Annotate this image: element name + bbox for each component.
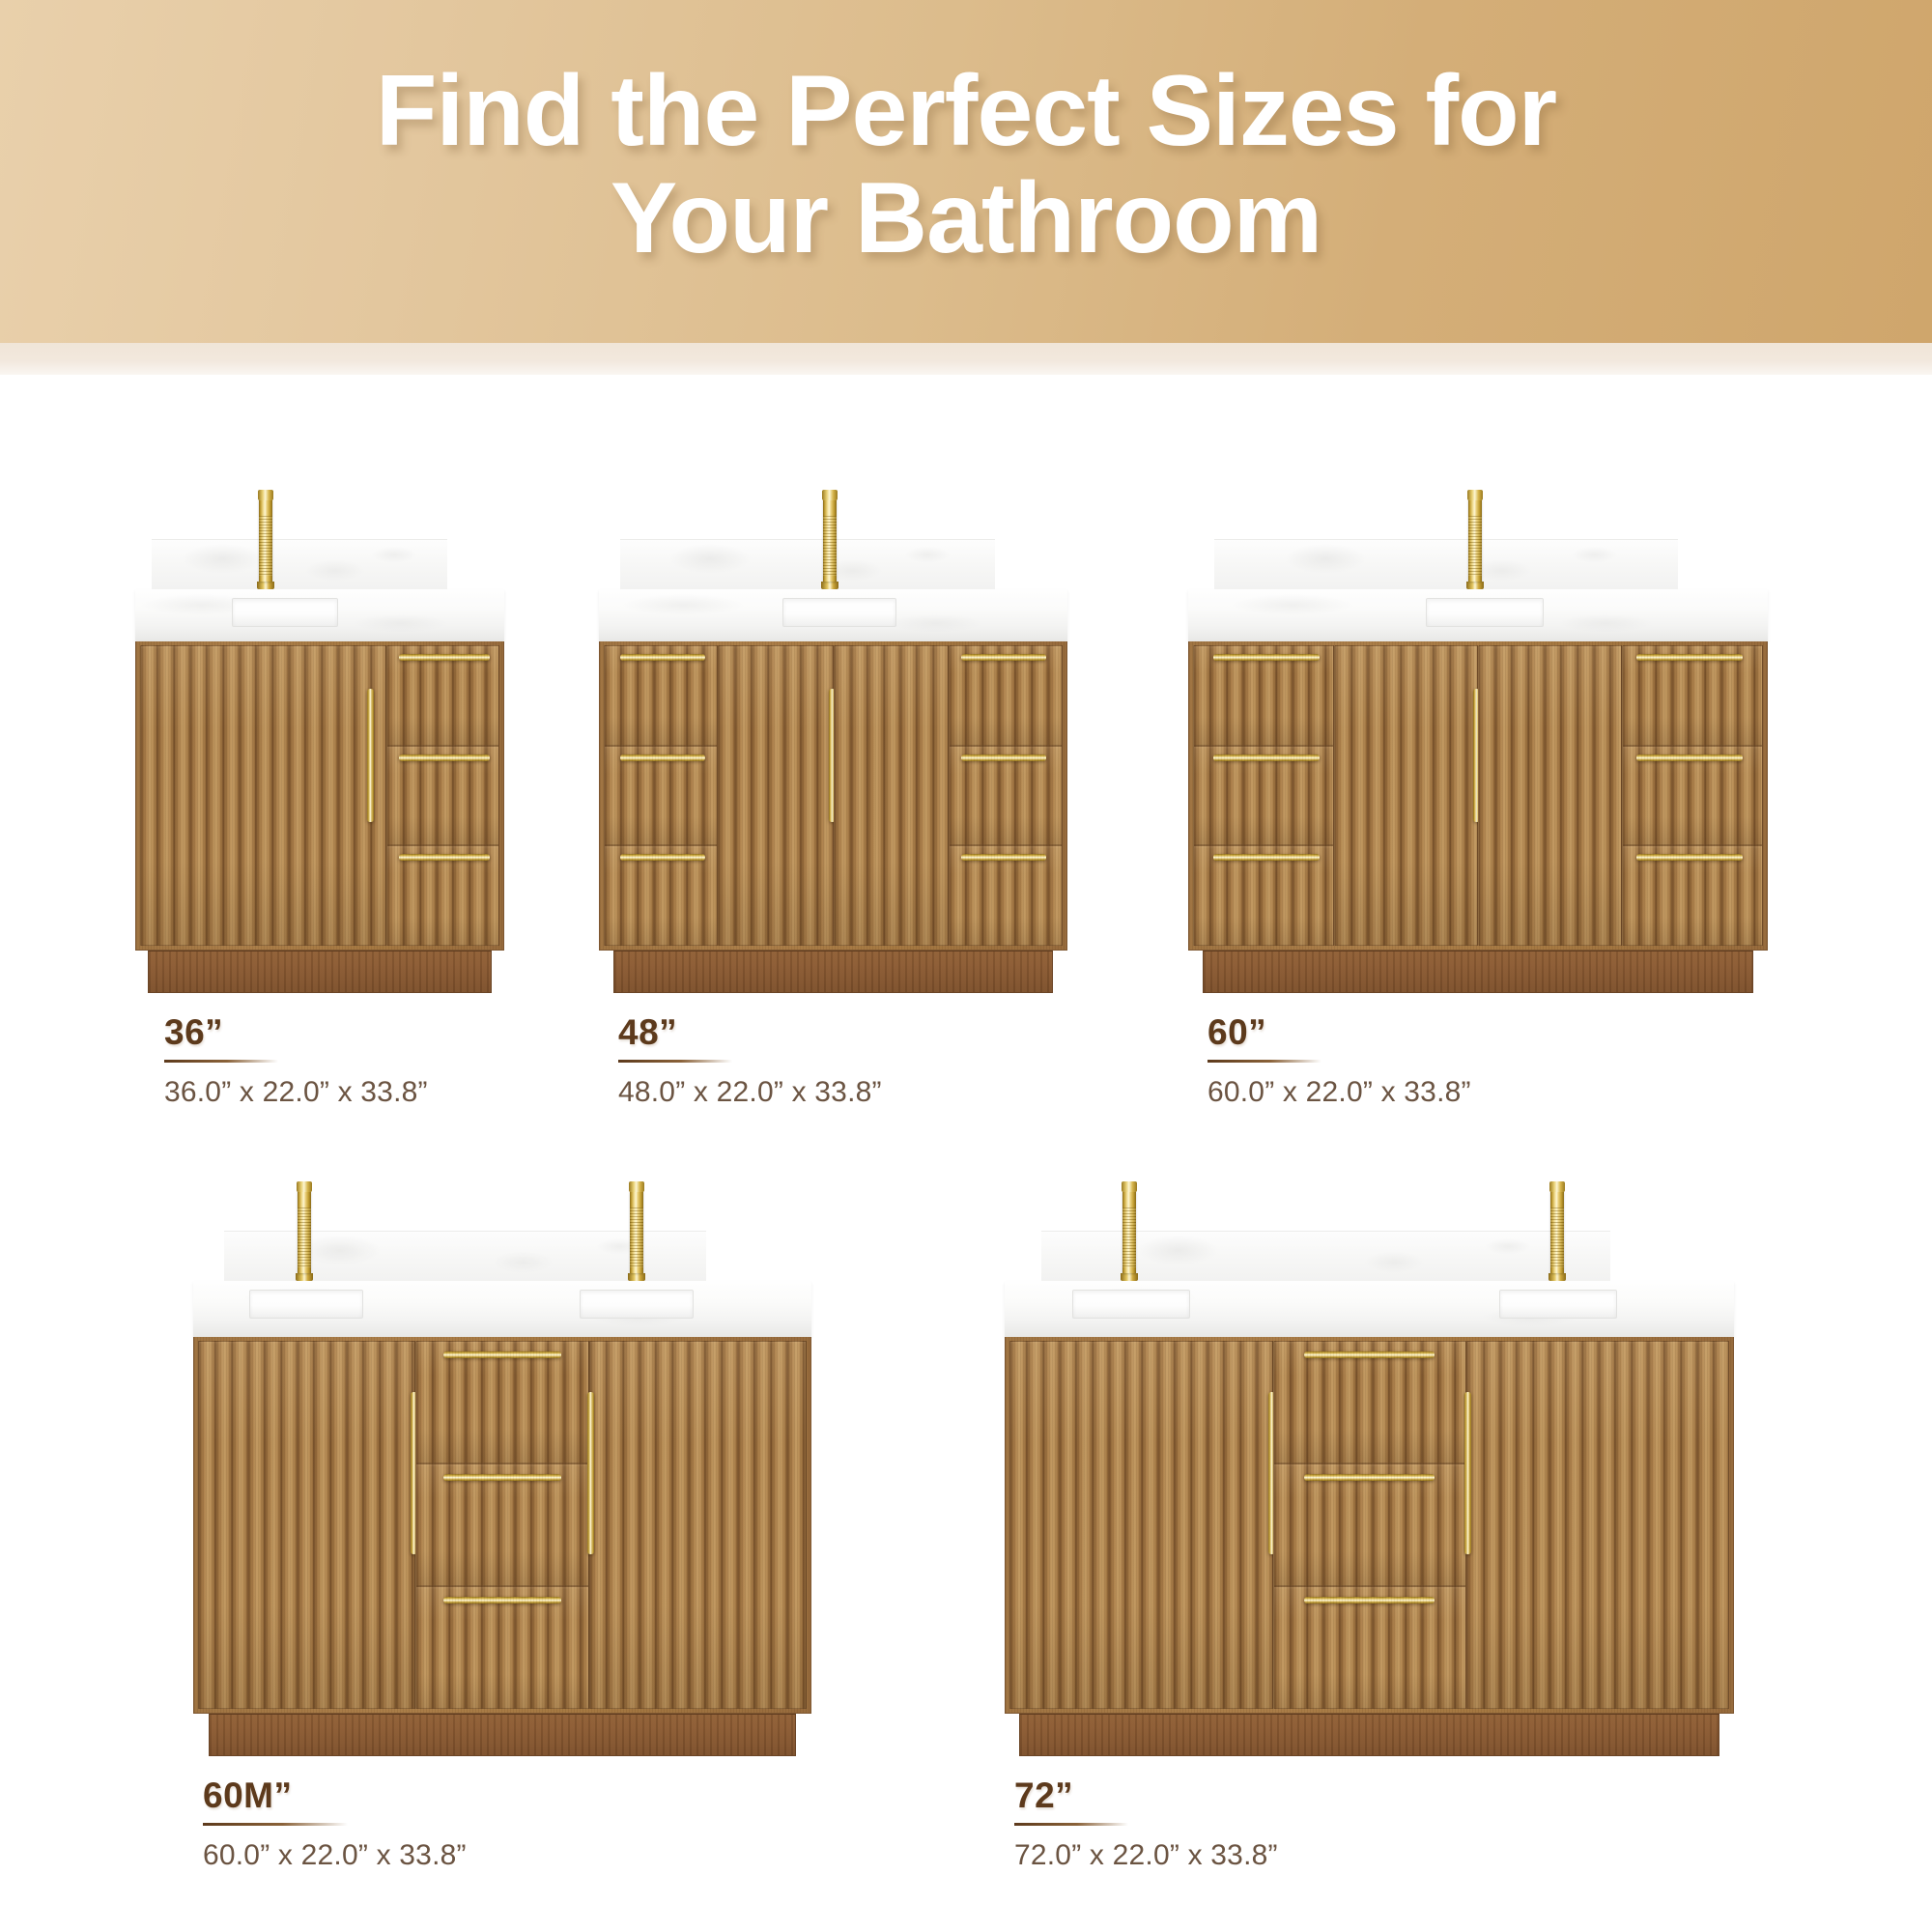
- product-row-top: 36” 36.0” x 22.0” x 33.8”: [0, 375, 1932, 1138]
- vanity-illustration-72: [1005, 1281, 1734, 1756]
- product-card-48[interactable]: 48” 48.0” x 22.0” x 33.8”: [599, 375, 1082, 1138]
- product-card-72[interactable]: 72” 72.0” x 22.0” x 33.8”: [1005, 1109, 1748, 1901]
- drawer-pull-handle-48-r3[interactable]: [961, 854, 1046, 861]
- sink-basin-36: [232, 598, 338, 627]
- dimensions-60m: 60.0” x 22.0” x 33.8”: [203, 1839, 467, 1872]
- cabinet-door-60-left[interactable]: [1334, 645, 1478, 946]
- header-divider-strip: [0, 343, 1932, 375]
- drawer-pull-handle-48-l2[interactable]: [620, 754, 705, 761]
- drawer-pull-handle-36-3[interactable]: [399, 854, 490, 861]
- size-label-48: 48”: [618, 1012, 677, 1060]
- vanity-illustration-60m: [193, 1281, 811, 1756]
- drawer-36-1[interactable]: [386, 645, 499, 746]
- toe-kick-base-60m: [209, 1714, 796, 1756]
- sink-basin-48: [782, 598, 896, 627]
- cabinet-door-60-right[interactable]: [1478, 645, 1622, 946]
- drawer-pull-handle-60m-c1[interactable]: [443, 1351, 560, 1358]
- drawer-72-c3[interactable]: [1273, 1586, 1466, 1709]
- size-label-36: 36”: [164, 1012, 223, 1060]
- drawer-36-2[interactable]: [386, 746, 499, 846]
- counter-slab-60m: [193, 1281, 811, 1337]
- drawer-60-r3[interactable]: [1622, 845, 1763, 946]
- dimensions-60: 60.0” x 22.0” x 33.8”: [1207, 1076, 1471, 1109]
- label-block-36: 36” 36.0” x 22.0” x 33.8”: [164, 1012, 428, 1109]
- product-grid: 36” 36.0” x 22.0” x 33.8”: [0, 375, 1932, 1932]
- door-pull-handle-60m-right[interactable]: [587, 1392, 594, 1554]
- drawer-pull-handle-72-c1[interactable]: [1304, 1351, 1435, 1358]
- drawer-pull-handle-48-l3[interactable]: [620, 854, 705, 861]
- faucet-60: [1468, 498, 1482, 589]
- sink-basin-60m-right: [580, 1290, 694, 1319]
- cabinet-body-60m: [193, 1337, 811, 1714]
- dimensions-48: 48.0” x 22.0” x 33.8”: [618, 1076, 882, 1109]
- drawer-pull-handle-60-l1[interactable]: [1213, 654, 1319, 661]
- drawer-48-l3[interactable]: [604, 845, 718, 946]
- cabinet-door-36[interactable]: [140, 645, 386, 946]
- product-card-36[interactable]: 36” 36.0” x 22.0” x 33.8”: [135, 375, 522, 1138]
- size-underline-60m: [203, 1823, 348, 1826]
- drawer-48-r1[interactable]: [949, 645, 1063, 746]
- drawer-60-r1[interactable]: [1622, 645, 1763, 746]
- drawer-60m-c3[interactable]: [415, 1586, 589, 1709]
- drawer-48-r3[interactable]: [949, 845, 1063, 946]
- drawer-pull-handle-72-c3[interactable]: [1304, 1597, 1435, 1604]
- countertop-72: [1005, 1281, 1734, 1337]
- label-block-60m: 60M” 60.0” x 22.0” x 33.8”: [203, 1776, 467, 1872]
- cabinet-door-60m-left[interactable]: [198, 1341, 415, 1709]
- sink-basin-72-right: [1499, 1290, 1617, 1319]
- counter-slab-36: [135, 589, 504, 641]
- vanity-illustration-36: [135, 589, 504, 993]
- cabinet-body-48: [599, 641, 1067, 951]
- label-block-72: 72” 72.0” x 22.0” x 33.8”: [1014, 1776, 1278, 1872]
- drawer-pull-handle-60-r1[interactable]: [1636, 654, 1742, 661]
- drawer-pull-handle-60-r3[interactable]: [1636, 854, 1742, 861]
- size-label-60: 60”: [1207, 1012, 1266, 1060]
- door-pull-handle-72-right[interactable]: [1464, 1392, 1471, 1554]
- drawer-pull-handle-60-l2[interactable]: [1213, 754, 1319, 761]
- drawer-pull-handle-60m-c2[interactable]: [443, 1474, 560, 1481]
- faucet-60m-right: [630, 1190, 643, 1281]
- drawer-60-l3[interactable]: [1193, 845, 1334, 946]
- vanity-illustration-48: [599, 589, 1067, 993]
- drawer-pull-handle-48-l1[interactable]: [620, 654, 705, 661]
- size-label-72: 72”: [1014, 1776, 1073, 1823]
- sink-basin-60m-left: [249, 1290, 363, 1319]
- dimensions-36: 36.0” x 22.0” x 33.8”: [164, 1076, 428, 1109]
- counter-slab-72: [1005, 1281, 1734, 1337]
- countertop-60: [1188, 589, 1768, 641]
- cabinet-door-48-right[interactable]: [834, 645, 950, 946]
- cabinet-body-72: [1005, 1337, 1734, 1714]
- size-label-60m: 60M”: [203, 1776, 292, 1823]
- sink-basin-60: [1426, 598, 1544, 627]
- cabinet-door-48-left[interactable]: [718, 645, 834, 946]
- drawer-48-r2[interactable]: [949, 746, 1063, 846]
- toe-kick-base-72: [1019, 1714, 1719, 1756]
- label-block-60: 60” 60.0” x 22.0” x 33.8”: [1207, 1012, 1471, 1109]
- drawer-48-l2[interactable]: [604, 746, 718, 846]
- vanity-illustration-60: [1188, 589, 1768, 993]
- drawer-pull-handle-36-1[interactable]: [399, 654, 490, 661]
- size-underline-36: [164, 1060, 278, 1063]
- drawer-pull-handle-36-2[interactable]: [399, 754, 490, 761]
- faucet-48: [823, 498, 837, 589]
- product-card-60[interactable]: 60” 60.0” x 22.0” x 33.8”: [1188, 375, 1787, 1138]
- drawer-pull-handle-72-c2[interactable]: [1304, 1474, 1435, 1481]
- page-title-line-2: Your Bathroom: [611, 162, 1321, 274]
- page-header: Find the Perfect Sizes for Your Bathroom: [0, 0, 1932, 343]
- size-underline-48: [618, 1060, 732, 1063]
- backsplash-60: [1214, 539, 1678, 589]
- product-card-60m[interactable]: 60M” 60.0” x 22.0” x 33.8”: [193, 1109, 831, 1901]
- countertop-36: [135, 589, 504, 641]
- page-title-line-1: Find the Perfect Sizes for: [376, 55, 1556, 167]
- drawer-72-c2[interactable]: [1273, 1463, 1466, 1586]
- backsplash-48: [620, 539, 995, 589]
- drawer-60-l2[interactable]: [1193, 746, 1334, 846]
- drawer-pull-handle-60-r2[interactable]: [1636, 754, 1742, 761]
- cabinet-body-60: [1188, 641, 1768, 951]
- drawer-36-3[interactable]: [386, 845, 499, 946]
- cabinet-body-36: [135, 641, 504, 951]
- drawer-48-l1[interactable]: [604, 645, 718, 746]
- toe-kick-base-48: [613, 951, 1054, 993]
- drawer-60m-c1[interactable]: [415, 1341, 589, 1463]
- faucet-72-left: [1122, 1190, 1136, 1281]
- drawer-72-c1[interactable]: [1273, 1341, 1466, 1463]
- dimensions-72: 72.0” x 22.0” x 33.8”: [1014, 1839, 1278, 1872]
- toe-kick-base-36: [148, 951, 491, 993]
- drawer-pull-handle-60m-c3[interactable]: [443, 1597, 560, 1604]
- product-row-bottom: 60M” 60.0” x 22.0” x 33.8”: [0, 1109, 1932, 1901]
- cabinet-door-72-right[interactable]: [1466, 1341, 1730, 1709]
- drawer-60-r2[interactable]: [1622, 746, 1763, 846]
- size-underline-60: [1207, 1060, 1321, 1063]
- cabinet-door-72-left[interactable]: [1009, 1341, 1273, 1709]
- drawer-pull-handle-48-r2[interactable]: [961, 754, 1046, 761]
- countertop-48: [599, 589, 1067, 641]
- page-title: Find the Perfect Sizes for Your Bathroom: [376, 58, 1556, 284]
- drawer-pull-handle-48-r1[interactable]: [961, 654, 1046, 661]
- drawer-60-l1[interactable]: [1193, 645, 1334, 746]
- size-underline-72: [1014, 1823, 1128, 1826]
- cabinet-door-60m-right[interactable]: [589, 1341, 807, 1709]
- label-block-48: 48” 48.0” x 22.0” x 33.8”: [618, 1012, 882, 1109]
- faucet-60m-left: [298, 1190, 311, 1281]
- countertop-60m: [193, 1281, 811, 1337]
- faucet-72-right: [1550, 1190, 1564, 1281]
- drawer-pull-handle-60-l3[interactable]: [1213, 854, 1319, 861]
- sink-basin-72-left: [1072, 1290, 1190, 1319]
- faucet-36: [259, 498, 272, 589]
- door-pull-handle-36[interactable]: [367, 689, 374, 822]
- toe-kick-base-60: [1203, 951, 1753, 993]
- drawer-60m-c2[interactable]: [415, 1463, 589, 1586]
- backsplash-36: [152, 539, 447, 589]
- counter-slab-48: [599, 589, 1067, 641]
- counter-slab-60: [1188, 589, 1768, 641]
